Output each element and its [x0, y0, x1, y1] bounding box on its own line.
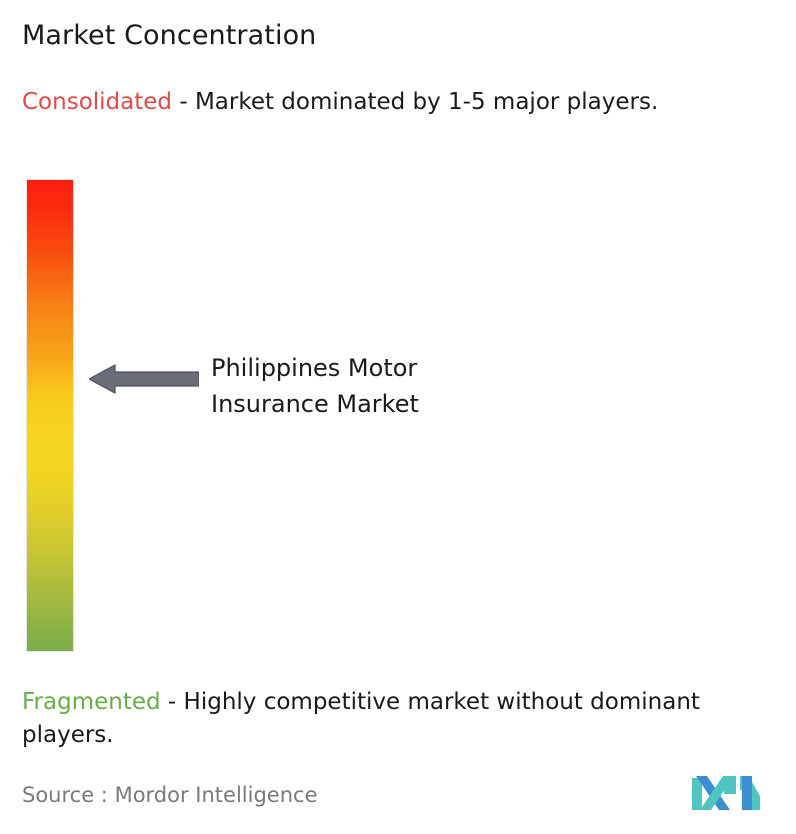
- legend-consolidated-term: Consolidated: [22, 89, 172, 115]
- market-pointer-arrow-icon: [89, 363, 199, 395]
- legend-consolidated: Consolidated - Market dominated by 1-5 m…: [22, 86, 766, 119]
- legend-fragmented: Fragmented - Highly competitive market w…: [22, 686, 784, 752]
- legend-fragmented-term: Fragmented: [22, 689, 161, 715]
- legend-consolidated-separator: -: [172, 89, 195, 115]
- source-value: Mordor Intelligence: [115, 783, 318, 807]
- legend-consolidated-description: Market dominated by 1-5 major players.: [195, 89, 658, 115]
- market-pointer-label: Philippines Motor Insurance Market: [211, 350, 419, 422]
- page-title: Market Concentration: [22, 20, 316, 51]
- legend-fragmented-separator: -: [161, 689, 184, 715]
- source-attribution: Source : Mordor Intelligence: [22, 783, 317, 807]
- mordor-intelligence-logo-icon: [692, 770, 766, 814]
- source-label: Source :: [22, 783, 108, 807]
- concentration-gradient-bar: [27, 180, 73, 651]
